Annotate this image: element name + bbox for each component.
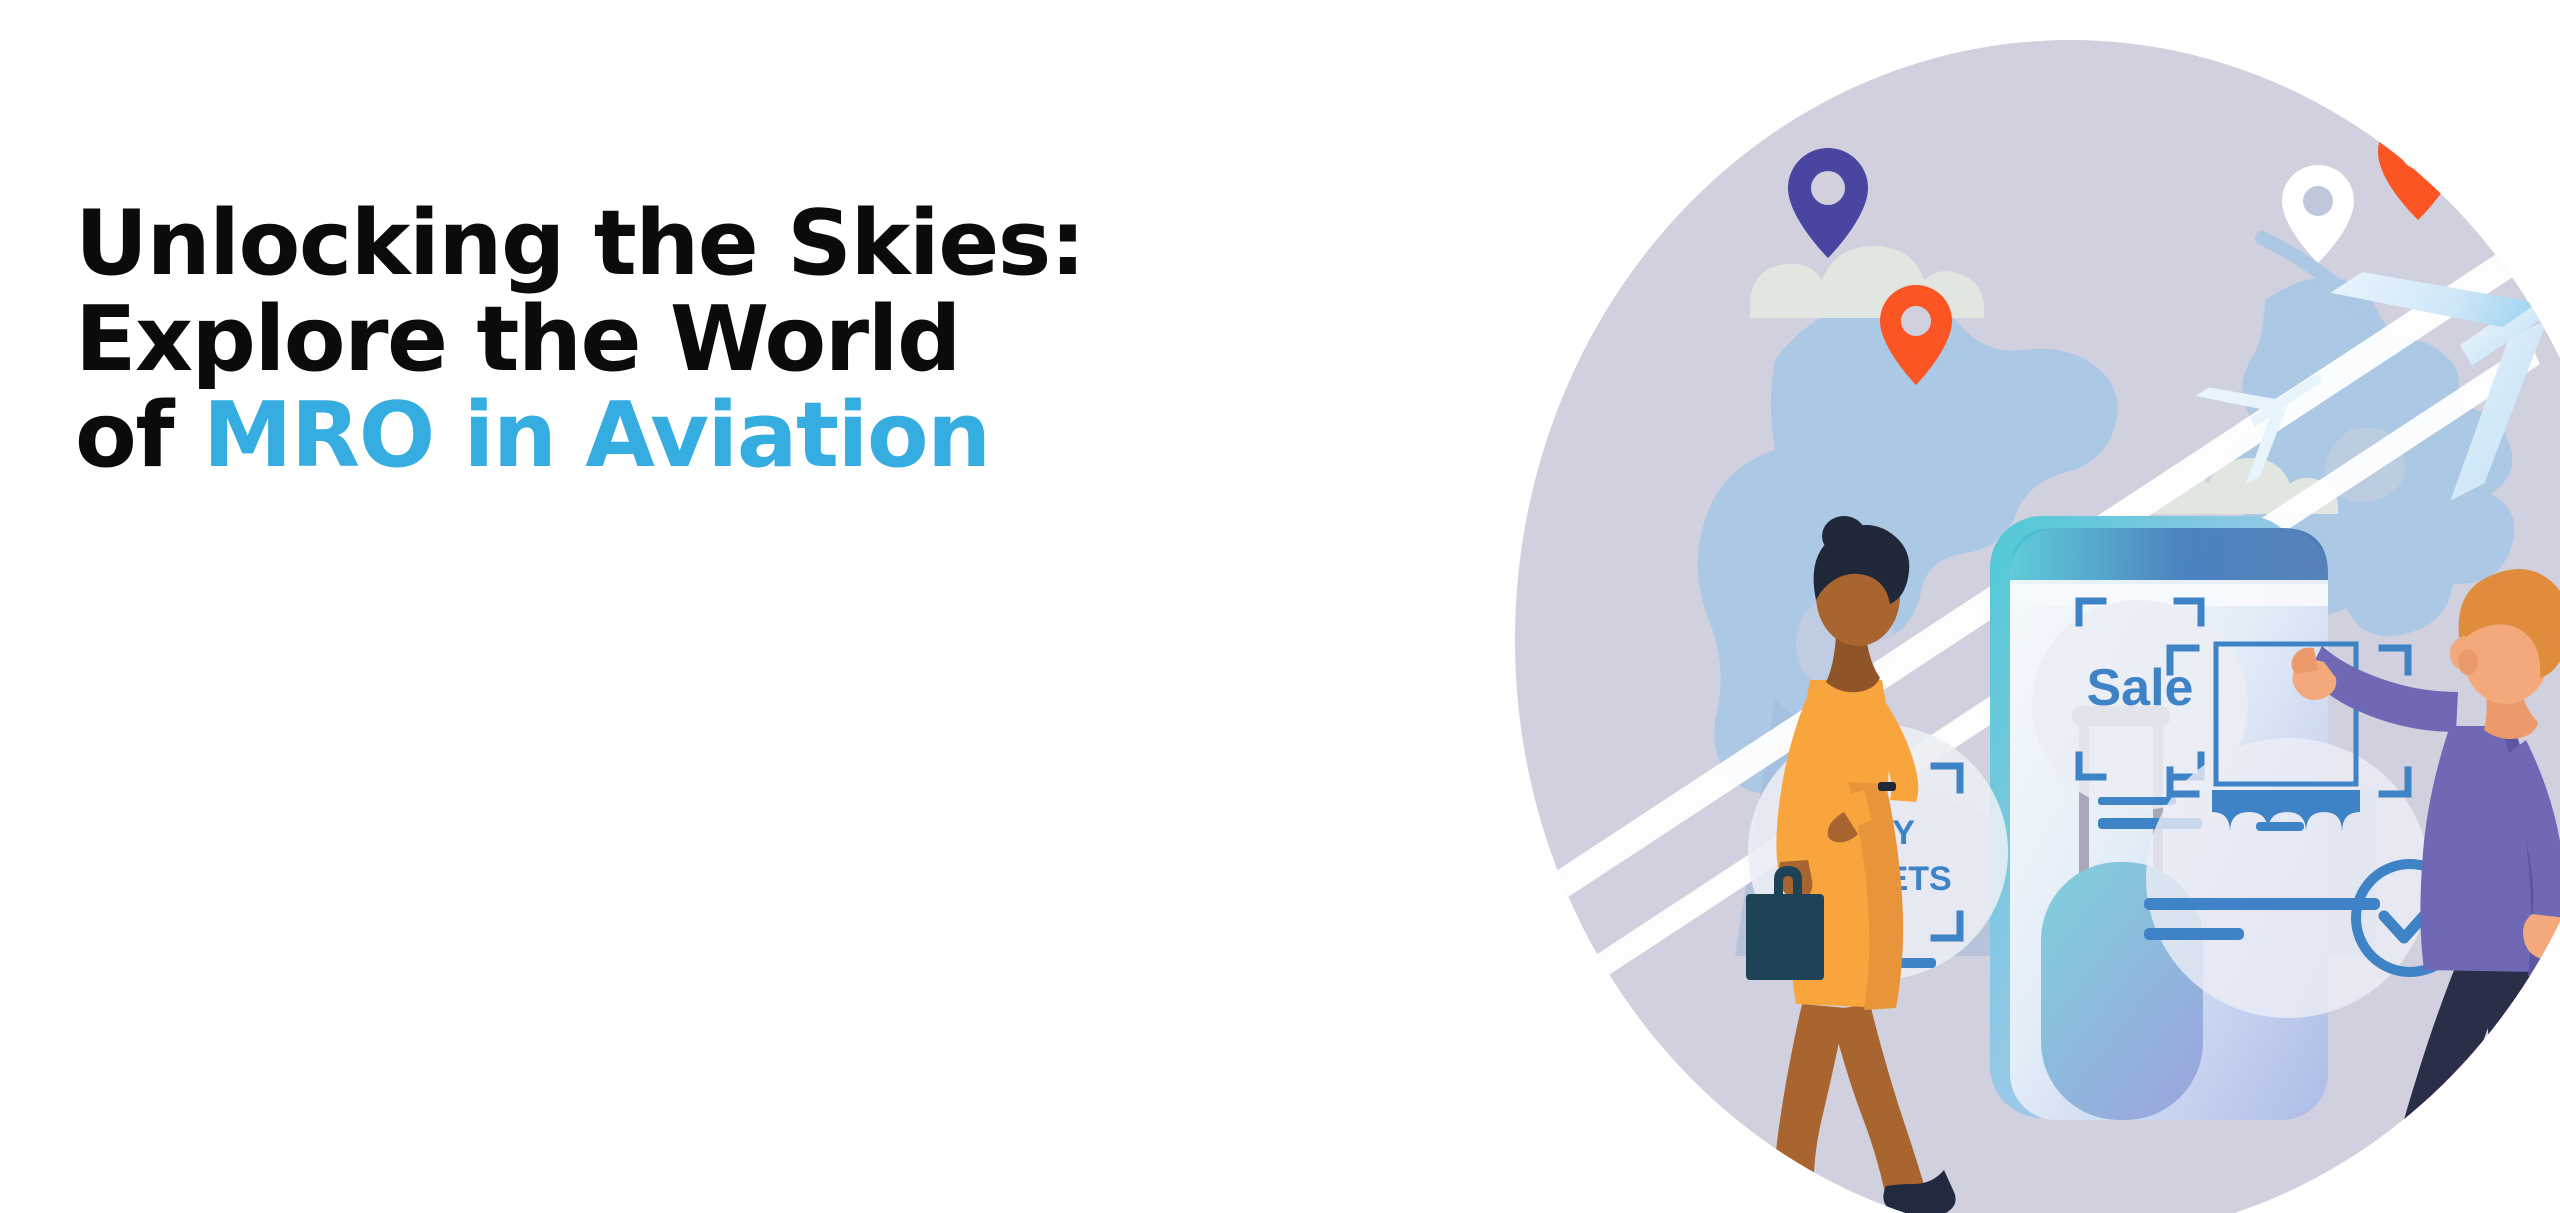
hero-banner: Unlocking the Skies: Explore the World o… bbox=[0, 0, 2560, 1213]
sale-label-text: Sale bbox=[0, 0, 1, 1]
buy-tickets-text-2: TICKETS bbox=[0, 0, 1, 1]
headline-accent-text: MRO in Aviation bbox=[203, 383, 990, 488]
buy-tickets-text-1: BUY bbox=[0, 0, 1, 1]
headline-line-2: Explore the World bbox=[75, 292, 975, 388]
headline-line-3: of MRO in Aviation bbox=[75, 388, 975, 484]
headline-line-3-prefix: of bbox=[75, 383, 203, 488]
aviation-travel-illustration: Sale BUY TICKETS bbox=[1450, 0, 2560, 1213]
sale-label: Sale bbox=[2087, 659, 2194, 717]
headline-line-1: Unlocking the Skies: bbox=[75, 196, 975, 292]
headline-block: Unlocking the Skies: Explore the World o… bbox=[75, 196, 975, 484]
page-title: Unlocking the Skies: Explore the World o… bbox=[75, 196, 975, 484]
